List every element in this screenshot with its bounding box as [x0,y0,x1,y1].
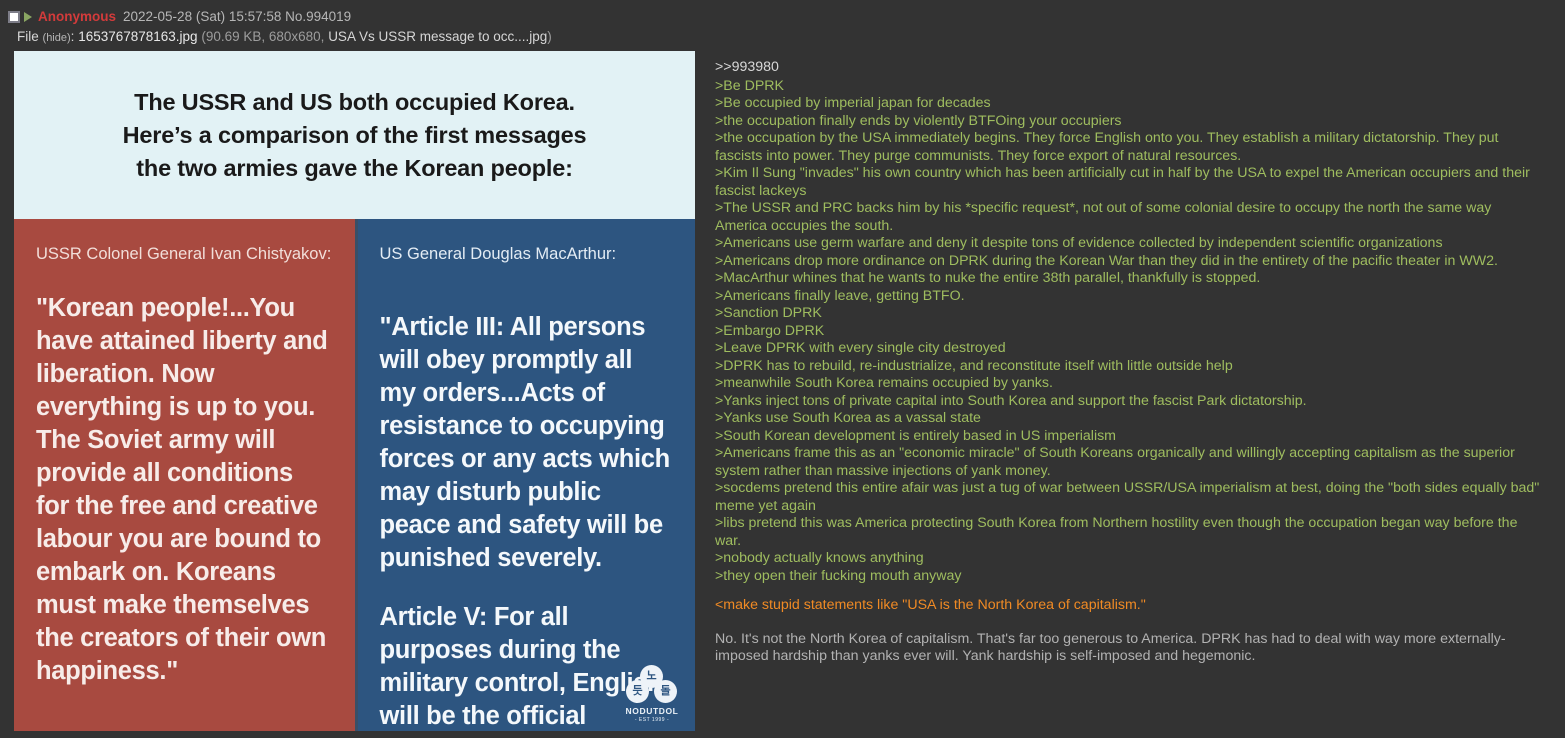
greentext-line: >Americans frame this as an "economic mi… [715,445,1543,480]
headline-line-1: The USSR and US both occupied Korea. [134,86,575,119]
greentext-line: >Yanks inject tons of private capital in… [715,393,1543,411]
file-hide-link[interactable]: (hide) [43,32,71,44]
us-panel: US General Douglas MacArthur: "Article I… [355,219,696,731]
greentext-line: >socdems pretend this entire afair was j… [715,480,1543,515]
greentext-line: >Americans use germ warfare and deny it … [715,235,1543,253]
ussr-panel: USSR Colonel General Ivan Chistyakov: "K… [14,219,355,731]
greentext-line: >they open their fucking mouth anyway [715,568,1543,586]
logo-established: - EST 1999 - [623,717,681,723]
greentext-line: >the occupation finally ends by violentl… [715,113,1543,131]
file-info-close-paren: ) [547,29,552,44]
nodutdol-logo: 노 듯 돌 NODUTDOL - EST 1999 - [623,665,681,723]
greentext-line: >meanwhile South Korea remains occupied … [715,375,1543,393]
headline-line-2: Here’s a comparison of the first message… [123,119,587,152]
us-attribution: US General Douglas MacArthur: [380,243,674,266]
file-original-name: USA Vs USSR message to occ....jpg [328,29,547,44]
greentext-line: >Sanction DPRK [715,305,1543,323]
post-header: Anonymous 2022-05-28 (Sat) 15:57:58 No.9… [0,0,1565,47]
quote-reply-link[interactable]: >>993980 [715,59,1543,77]
greentext-line: >Kim Il Sung "invades" his own country w… [715,165,1543,200]
file-size-dimensions: (90.69 KB, 680x680, [201,29,324,44]
greentext-line: >the occupation by the USA immediately b… [715,130,1543,165]
greentext-line: >Leave DPRK with every single city destr… [715,340,1543,358]
ussr-quote: "Korean people!...You have attained libe… [36,292,333,688]
file-name-link[interactable]: 1653767878163.jpg [78,29,197,44]
greentext-line: >DPRK has to rebuild, re-industrialize, … [715,358,1543,376]
logo-hangul-icon-3: 돌 [654,680,677,703]
logo-circles: 노 듯 돌 [623,665,681,705]
us-quote-article-3: "Article III: All persons will obey prom… [380,311,674,575]
greentext-line: >The USSR and PRC backs him by his *spec… [715,200,1543,235]
post-header-line: Anonymous 2022-05-28 (Sat) 15:57:58 No.9… [8,8,1565,25]
file-label: File [17,29,39,44]
ussr-attribution: USSR Colonel General Ivan Chistyakov: [36,243,333,266]
logo-name: NODUTDOL [623,706,681,716]
expand-post-arrow-icon[interactable] [24,12,32,22]
poster-name: Anonymous [38,8,116,25]
greentext-line: >libs pretend this was America protectin… [715,515,1543,550]
greentext-line: >Be DPRK [715,78,1543,96]
orangetext-line: <make stupid statements like "USA is the… [715,597,1543,615]
file-info-line: File (hide): 1653767878163.jpg (90.69 KB… [8,28,1565,47]
logo-hangul-icon-2: 듯 [626,680,649,703]
post-comment: >>993980 >Be DPRK>Be occupied by imperia… [695,51,1565,666]
headline-line-3: the two armies gave the Korean people: [136,152,572,185]
greentext-line: >Embargo DPRK [715,323,1543,341]
comment-paragraph: No. It's not the North Korea of capitali… [715,631,1543,666]
greentext-line: >Americans drop more ordinance on DPRK d… [715,253,1543,271]
greentext-line: >Yanks use South Korea as a vassal state [715,410,1543,428]
greentext-line: >nobody actually knows anything [715,550,1543,568]
infographic-columns: USSR Colonel General Ivan Chistyakov: "K… [14,219,695,731]
greentext-line: >Americans finally leave, getting BTFO. [715,288,1543,306]
greentext-line: >South Korean development is entirely ba… [715,428,1543,446]
greentext-line: >MacArthur whines that he wants to nuke … [715,270,1543,288]
attached-image-infographic[interactable]: The USSR and US both occupied Korea. Her… [14,51,695,731]
quote-spacer [380,575,674,601]
post-timestamp-and-id: 2022-05-28 (Sat) 15:57:58 No.994019 [123,8,351,25]
greentext-block: >Be DPRK>Be occupied by imperial japan f… [715,78,1543,586]
greentext-line: >Be occupied by imperial japan for decad… [715,95,1543,113]
file-colon: : [71,29,75,44]
infographic-headline: The USSR and US both occupied Korea. Her… [14,51,695,219]
post-body: The USSR and US both occupied Korea. Her… [0,51,1565,731]
select-post-checkbox[interactable] [8,11,20,23]
